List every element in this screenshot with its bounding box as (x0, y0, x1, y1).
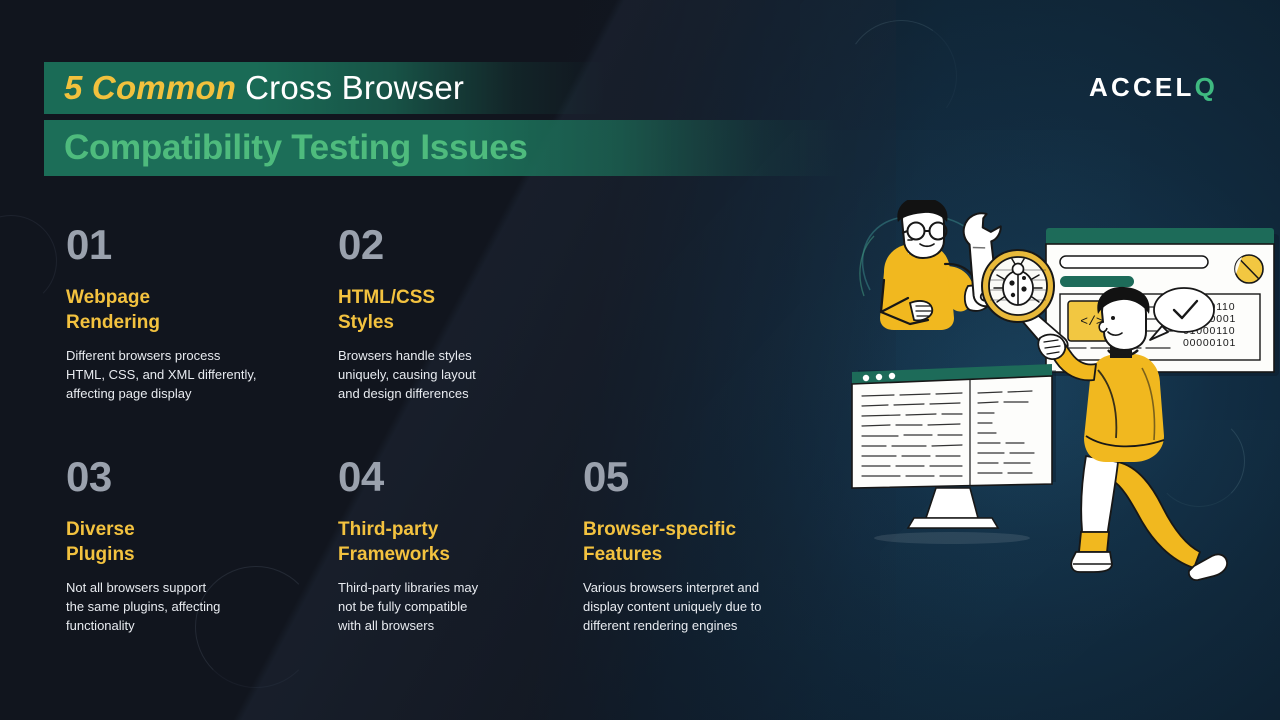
issue-item-05: 05 Browser-specific Features Various bro… (583, 456, 853, 636)
browser-tag-pill (1060, 276, 1134, 287)
issue-number: 02 (338, 224, 588, 266)
issue-title: Webpage Rendering (66, 285, 316, 335)
issue-item-01: 01 Webpage Rendering Different browsers … (66, 224, 316, 404)
illustration: </> 01000110 01000001 01000110 00000101 (850, 200, 1280, 660)
issue-number: 03 (66, 456, 316, 498)
issue-item-03: 03 Diverse Plugins Not all browsers supp… (66, 456, 316, 636)
issue-title: HTML/CSS Styles (338, 285, 588, 335)
monitor-window (852, 364, 1056, 544)
window-dot (876, 374, 882, 380)
issue-title: Third-party Frameworks (338, 517, 588, 567)
subtitle: Compatibility Testing Issues (64, 128, 528, 168)
title-highlight: 5 Common (64, 69, 236, 107)
infographic-slide: ACCELQ 5 Common Cross Browser Compatibil… (0, 0, 1280, 720)
window-dot (889, 373, 895, 379)
issue-number: 01 (66, 224, 316, 266)
illustration-svg: </> 01000110 01000001 01000110 00000101 (850, 200, 1280, 660)
issue-description: Not all browsers support the same plugin… (66, 579, 316, 636)
issue-title: Diverse Plugins (66, 517, 316, 567)
browser-url-bar[interactable] (1060, 256, 1208, 268)
issue-description: Various browsers interpret and display c… (583, 579, 853, 636)
binary-row-4: 00000101 (1183, 337, 1236, 349)
issue-description: Browsers handle styles uniquely, causing… (338, 347, 588, 404)
issue-number: 04 (338, 456, 588, 498)
issue-title: Browser-specific Features (583, 517, 853, 567)
issue-description: Different browsers process HTML, CSS, an… (66, 347, 316, 404)
issue-item-02: 02 HTML/CSS Styles Browsers handle style… (338, 224, 588, 404)
title-rest: Cross Browser (245, 69, 464, 107)
window-dot (863, 375, 869, 381)
issue-number: 05 (583, 456, 853, 498)
issue-item-04: 04 Third-party Frameworks Third-party li… (338, 456, 588, 636)
issue-description: Third-party libraries may not be fully c… (338, 579, 588, 636)
